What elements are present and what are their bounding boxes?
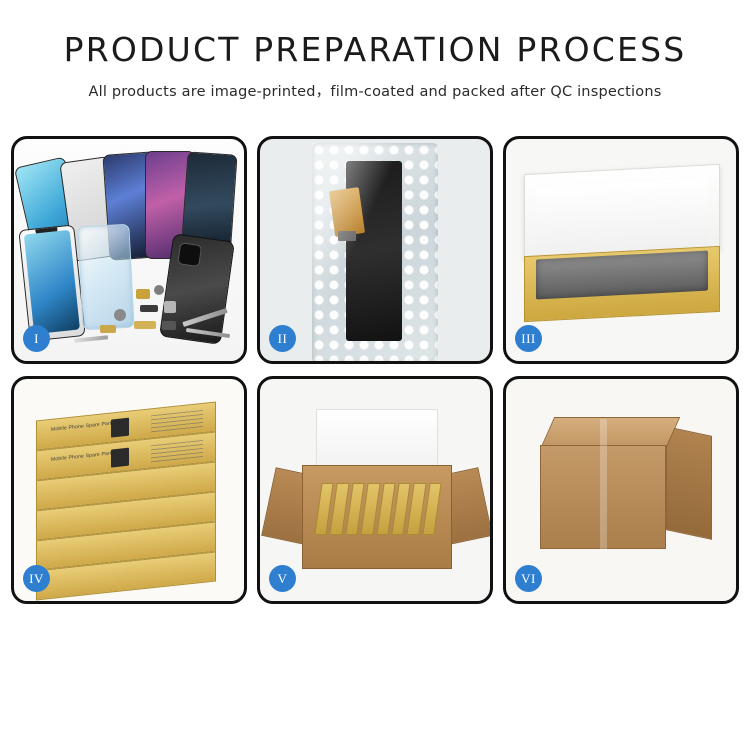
flex-cable	[329, 187, 365, 237]
step-card-foam-carton-loading: V	[257, 376, 493, 604]
product-preparation-infographic: PRODUCT PREPARATION PROCESS All products…	[0, 0, 750, 750]
step-number-badge: V	[269, 565, 296, 592]
spare-part	[140, 305, 158, 312]
step-card-bubble-wrap-protection: II	[257, 136, 493, 364]
page-title: PRODUCT PREPARATION PROCESS	[0, 30, 750, 69]
carton-side-panel	[666, 426, 712, 540]
box-graphic	[111, 418, 129, 438]
box-label: Mobile Phone Spare Parts	[51, 420, 114, 433]
box-text-lines	[151, 410, 203, 433]
step-card-sealed-carton: VI	[503, 376, 739, 604]
phone-front-white	[18, 224, 85, 341]
spare-part	[114, 309, 126, 321]
box-graphic	[111, 448, 129, 468]
connector	[338, 231, 356, 241]
lcd-screen-assembly	[346, 161, 402, 341]
header: PRODUCT PREPARATION PROCESS All products…	[0, 0, 750, 101]
step-card-parts-assortment: I	[11, 136, 247, 364]
bubble-wrap	[312, 143, 438, 363]
spare-part	[154, 285, 164, 295]
step-number-badge: II	[269, 325, 296, 352]
spare-part	[134, 321, 156, 329]
phone-wallpaper	[24, 230, 80, 334]
step-number-badge: IV	[23, 565, 50, 592]
camera-module-icon	[177, 242, 202, 267]
tempered-glass-film	[77, 224, 134, 331]
step-number-badge: VI	[515, 565, 542, 592]
spare-part	[164, 301, 176, 313]
steps-grid: I II III Mobile Phone Spare Parts	[11, 136, 739, 604]
step-card-inner-box-packing: III	[503, 136, 739, 364]
spare-part	[162, 321, 176, 330]
step-number-badge: III	[515, 325, 542, 352]
box-label: Mobile Phone Spare Parts	[51, 450, 114, 463]
step-number-badge: I	[23, 325, 50, 352]
page-subtitle: All products are image-printed，film-coat…	[0, 80, 750, 101]
spare-part	[100, 325, 116, 333]
packed-boxes	[314, 483, 441, 535]
step-card-boxes-stacked: Mobile Phone Spare Parts Mobile Phone Sp…	[11, 376, 247, 604]
spare-part	[136, 289, 150, 299]
box-text-lines	[151, 440, 203, 463]
carton-seam	[600, 419, 607, 549]
